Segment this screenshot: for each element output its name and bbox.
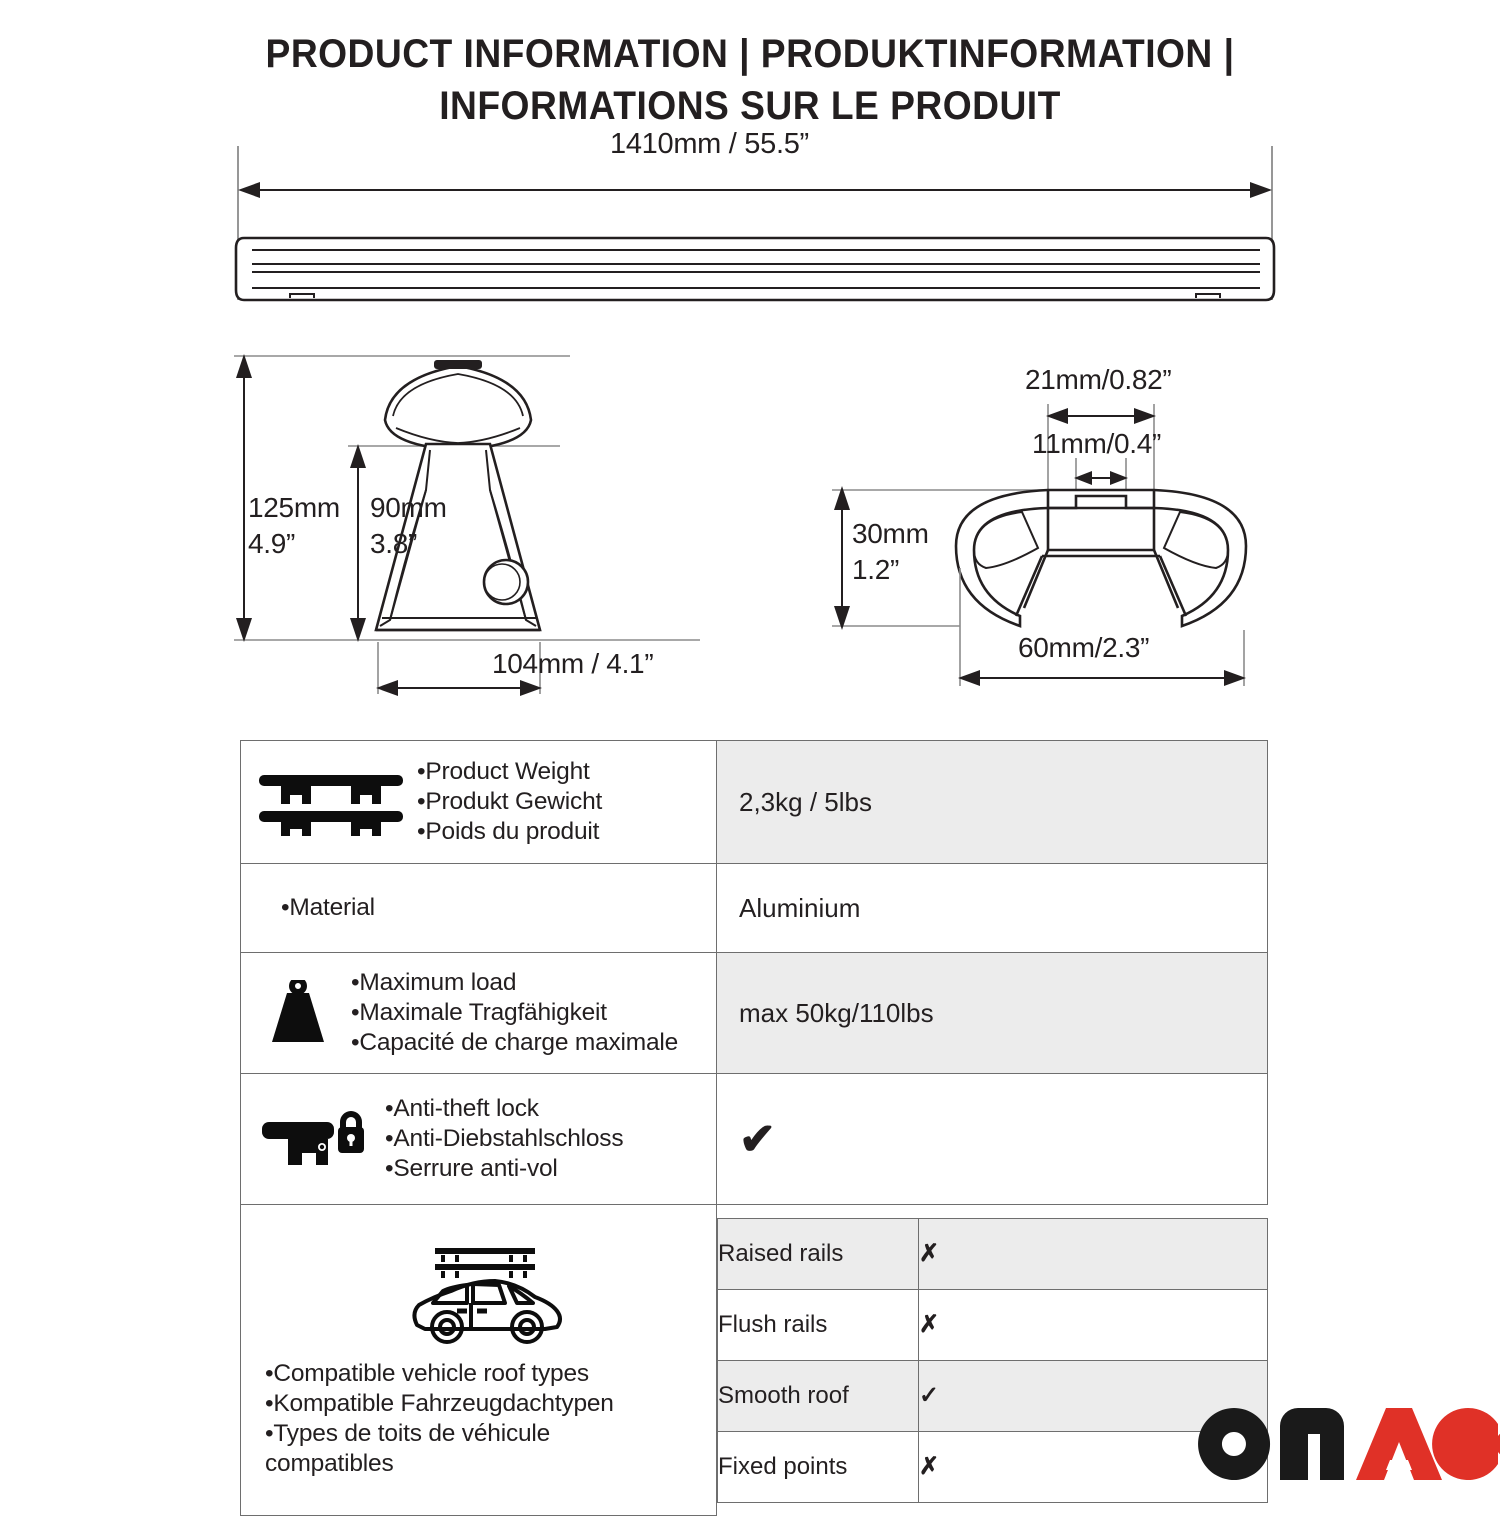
roof-type-name: Flush rails	[718, 1289, 919, 1360]
label-de: •Kompatible Fahrzeugdachtypen	[265, 1389, 635, 1419]
omac-logo	[1190, 1404, 1500, 1484]
label-cell-material: •Material	[241, 864, 717, 953]
logo-letter-o	[1198, 1408, 1270, 1480]
label-cell-anti-theft-lock: •Anti-theft lock •Anti-Diebstahlschloss …	[241, 1074, 717, 1205]
label-list-max-load: •Maximum load •Maximale Tragfähigkeit •C…	[351, 968, 678, 1058]
product-information-sheet: PRODUCT INFORMATION | PRODUKTINFORMATION…	[0, 0, 1500, 1500]
label-de: •Anti-Diebstahlschloss	[385, 1124, 623, 1154]
logo-letter-a	[1356, 1408, 1442, 1480]
bar-cross-section-diagram: 21mm/0.82” 11mm/0.4” 30mm 1.2” 60mm/2.3”	[810, 368, 1290, 698]
label-fr: •Types de toits de véhicule compatibles	[265, 1419, 635, 1479]
roof-type-name: Fixed points	[718, 1431, 919, 1502]
roof-type-name: Raised rails	[718, 1218, 919, 1289]
label-list-material: •Material	[255, 893, 375, 923]
table-row-product-weight: •Product Weight •Produkt Gewicht •Poids …	[241, 741, 1268, 864]
value-anti-theft-lock: ✔	[717, 1074, 1268, 1205]
label-en: •Compatible vehicle roof types	[265, 1359, 635, 1389]
value-max-load: max 50kg/110lbs	[717, 953, 1268, 1074]
title-line-1: PRODUCT INFORMATION | PRODUKTINFORMATION…	[53, 28, 1448, 80]
roof-type-mark: ✗	[919, 1289, 1268, 1360]
label-en: •Product Weight	[417, 757, 602, 787]
tower-base-width-label: 104mm / 4.1”	[492, 646, 653, 682]
label-fr: •Capacité de charge maximale	[351, 1028, 678, 1058]
table-row-material: •Material Aluminium	[241, 864, 1268, 953]
roof-type-name: Smooth roof	[718, 1360, 919, 1431]
label-cell-product-weight: •Product Weight •Produkt Gewicht •Poids …	[241, 741, 717, 864]
roof-type-row-raised-rails: Raised rails ✗	[718, 1218, 1268, 1289]
label-list-product-weight: •Product Weight •Produkt Gewicht •Poids …	[417, 757, 602, 847]
label-cell-roof-types: •Compatible vehicle roof types •Kompatib…	[241, 1205, 717, 1516]
title-line-2: INFORMATIONS SUR LE PRODUIT	[53, 80, 1448, 132]
roof-type-row-flush-rails: Flush rails ✗	[718, 1289, 1268, 1360]
label-de: •Maximale Tragfähigkeit	[351, 998, 678, 1028]
specification-table: •Product Weight •Produkt Gewicht •Poids …	[240, 740, 1268, 1516]
roof-types-matrix-cell: Raised rails ✗ Flush rails ✗ Smooth roof…	[717, 1205, 1268, 1516]
tower-height-inner-label: 90mm 3.8”	[370, 490, 447, 562]
label-list-roof-types: •Compatible vehicle roof types •Kompatib…	[255, 1359, 635, 1479]
slot-outer-width-label: 21mm/0.82”	[1025, 362, 1171, 398]
label-en: •Material	[281, 893, 375, 923]
page-title: PRODUCT INFORMATION | PRODUKTINFORMATION…	[0, 28, 1500, 132]
label-fr: •Serrure anti-vol	[385, 1154, 623, 1184]
bar-length-label: 1410mm / 55.5”	[610, 126, 809, 162]
tower-height-total-label: 125mm 4.9”	[248, 490, 340, 562]
table-row-anti-theft-lock: •Anti-theft lock •Anti-Diebstahlschloss …	[241, 1074, 1268, 1205]
label-en: •Maximum load	[351, 968, 678, 998]
lock-bar-icon	[255, 1108, 375, 1170]
table-row-roof-types: •Compatible vehicle roof types •Kompatib…	[241, 1205, 1268, 1516]
roof-type-row-smooth-roof: Smooth roof ✓	[718, 1360, 1268, 1431]
label-de: •Produkt Gewicht	[417, 787, 602, 817]
tower-front-view-diagram: 125mm 4.9” 90mm 3.8” 104mm / 4.1”	[230, 350, 700, 700]
car-with-rack-icon	[255, 1241, 710, 1353]
two-crossbars-icon	[255, 767, 407, 837]
label-cell-max-load: •Maximum load •Maximale Tragfähigkeit •C…	[241, 953, 717, 1074]
roof-bar-length-diagram: 1410mm / 55.5”	[230, 140, 1280, 310]
value-product-weight: 2,3kg / 5lbs	[717, 741, 1268, 864]
roof-bar-length-svg	[230, 140, 1280, 310]
roof-type-row-fixed-points: Fixed points ✗	[718, 1431, 1268, 1502]
value-material: Aluminium	[717, 864, 1268, 953]
logo-letter-c	[1432, 1408, 1500, 1480]
roof-type-mark: ✗	[919, 1218, 1268, 1289]
logo-letter-m	[1280, 1408, 1344, 1480]
roof-types-matrix: Raised rails ✗ Flush rails ✗ Smooth roof…	[717, 1218, 1268, 1503]
bar-width-label: 60mm/2.3”	[1018, 630, 1149, 666]
slot-inner-width-label: 11mm/0.4”	[1032, 426, 1161, 462]
weight-icon	[255, 980, 341, 1046]
label-en: •Anti-theft lock	[385, 1094, 623, 1124]
label-fr: •Poids du produit	[417, 817, 602, 847]
bar-height-label: 30mm 1.2”	[852, 516, 929, 588]
omac-logo-svg	[1190, 1404, 1500, 1484]
table-row-max-load: •Maximum load •Maximale Tragfähigkeit •C…	[241, 953, 1268, 1074]
label-list-anti-theft-lock: •Anti-theft lock •Anti-Diebstahlschloss …	[385, 1094, 623, 1184]
